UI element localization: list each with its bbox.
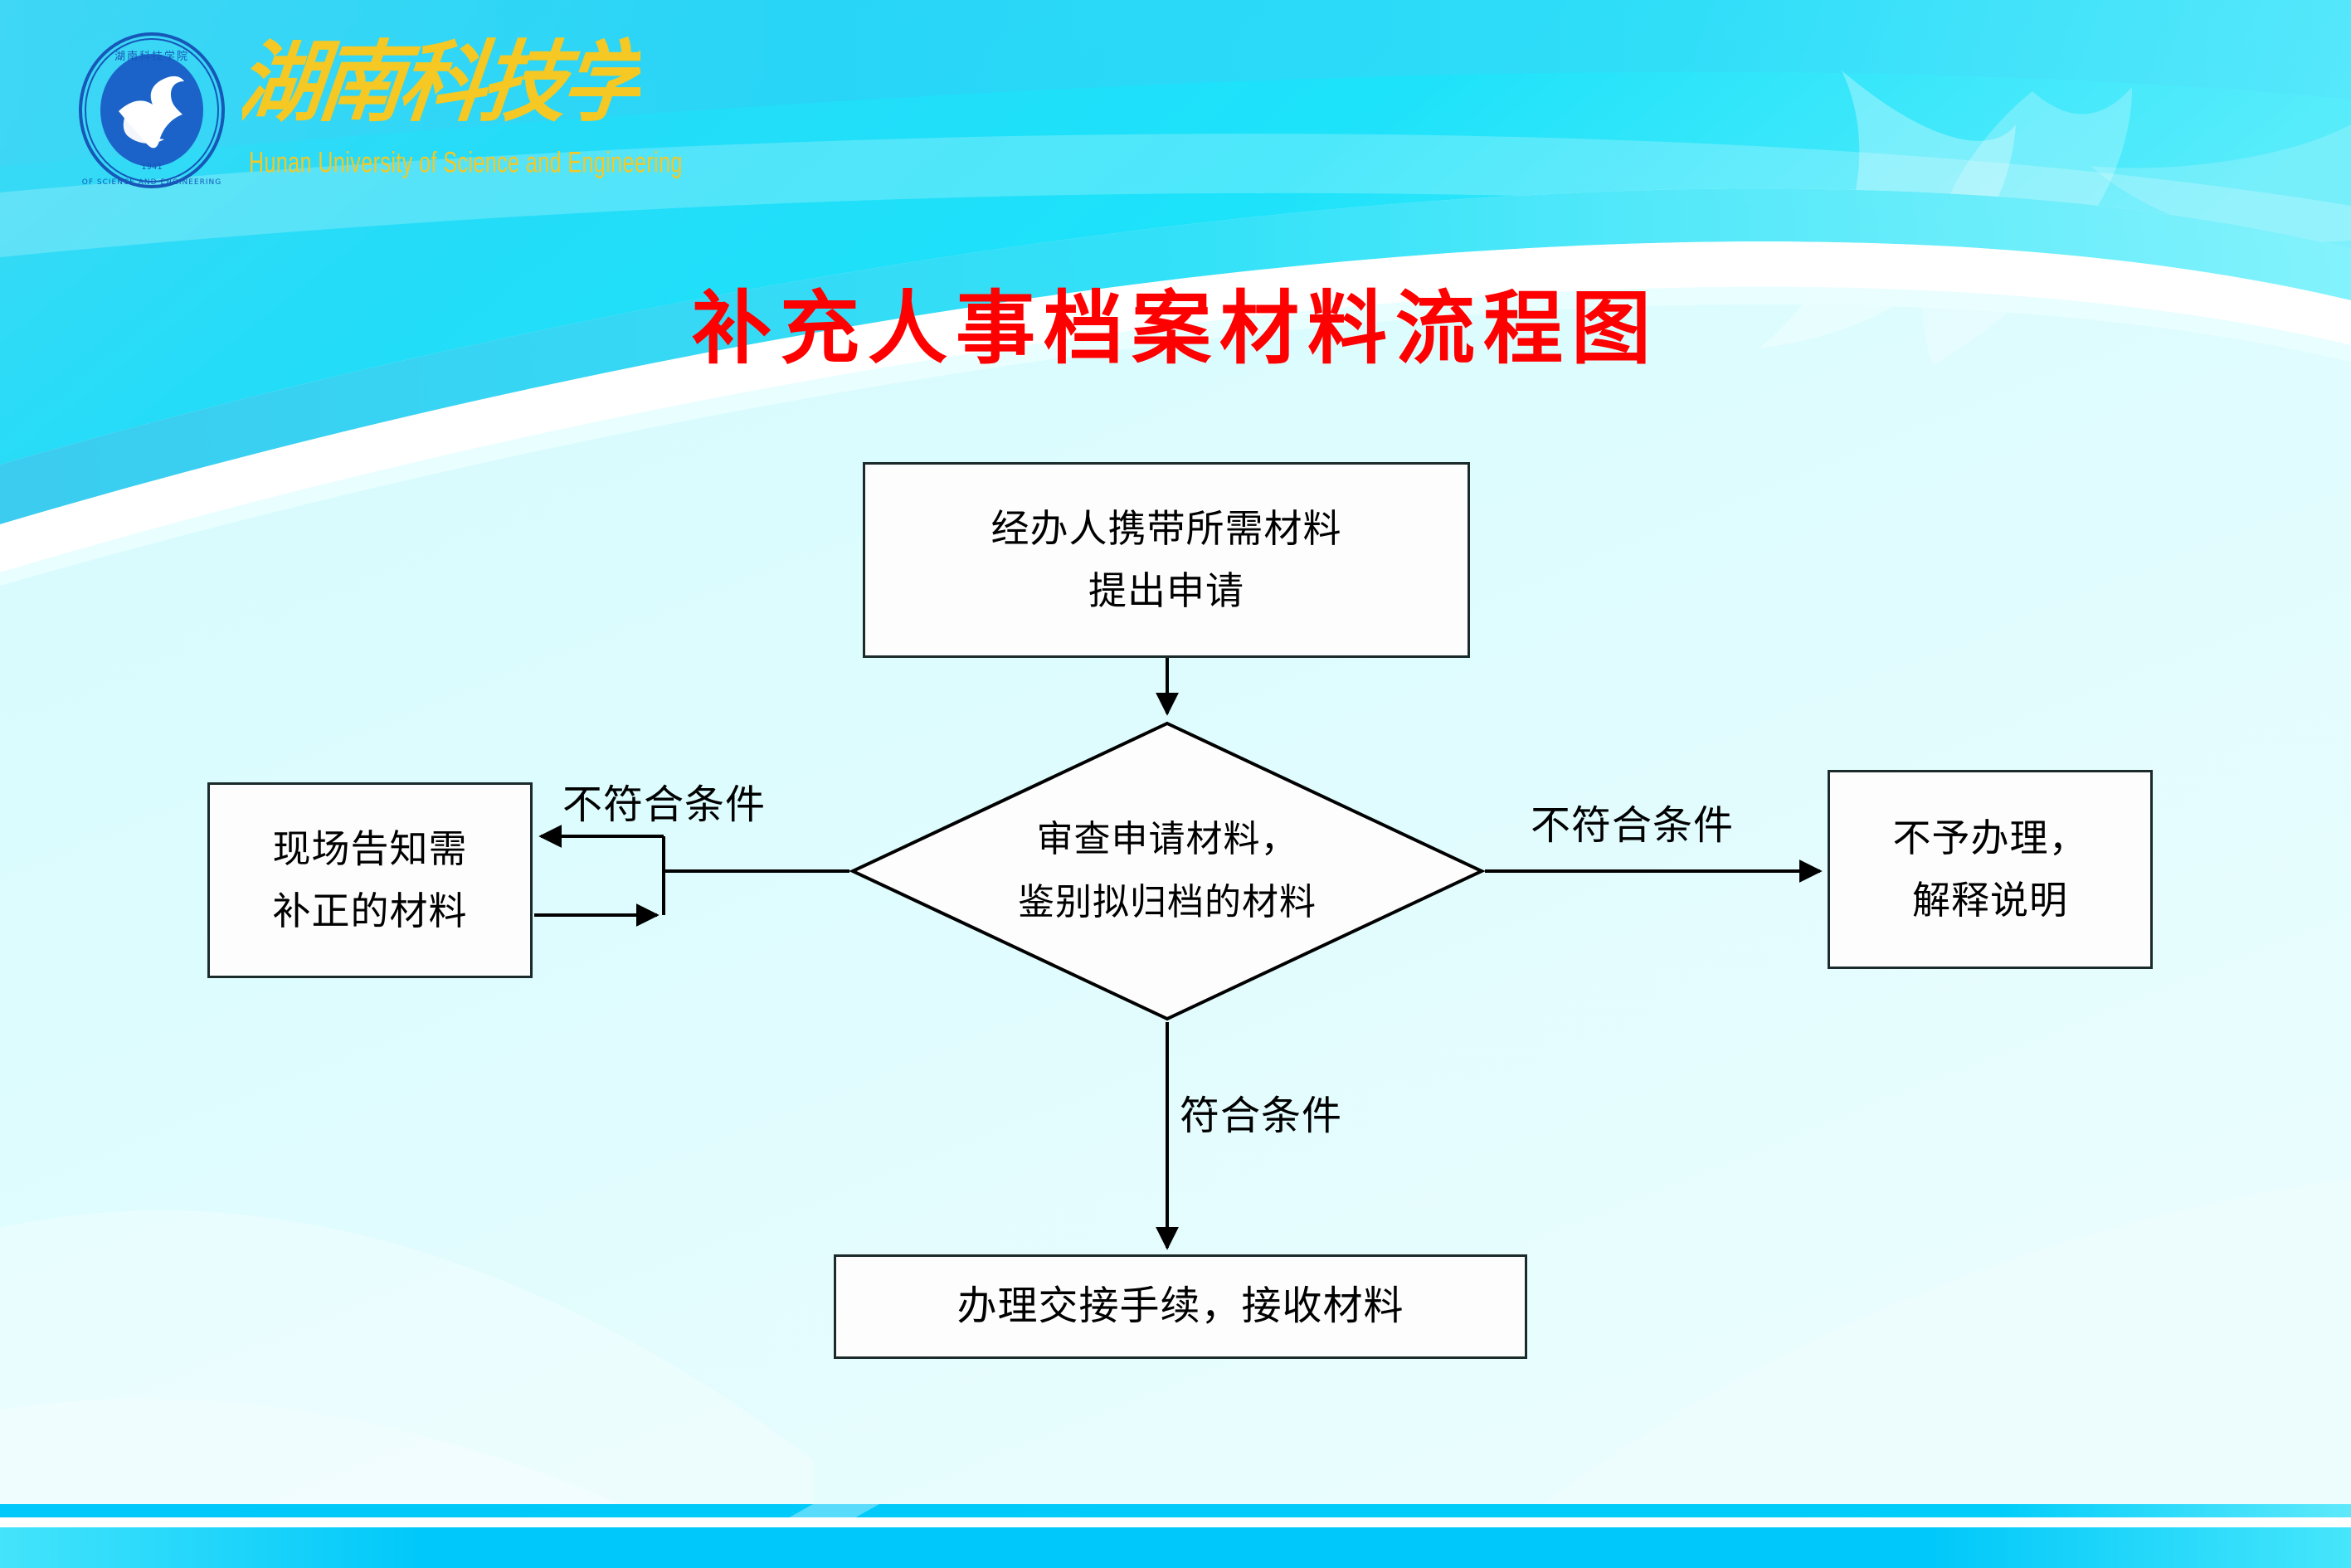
flow-node-reject-line-2: 解释说明 bbox=[1912, 869, 2068, 932]
edge-label-left: 不符合条件 bbox=[562, 772, 766, 830]
page-title: 补充人事档案材料流程图 bbox=[0, 264, 2351, 379]
svg-text:OF SCIENCE AND ENGINEERING: OF SCIENCE AND ENGINEERING bbox=[82, 178, 221, 187]
flow-node-accept-line-1: 办理交接手续，接收材料 bbox=[956, 1274, 1404, 1339]
flow-node-notify-line-1: 现场告知需 bbox=[273, 818, 468, 880]
flow-node-reject-line-1: 不予办理， bbox=[1893, 807, 2088, 869]
university-name-en: Hunan University of Science and Engineer… bbox=[249, 145, 683, 180]
flow-node-review[interactable]: 审查申请材料， 鉴别拟归档的材料 bbox=[849, 720, 1485, 1022]
svg-text:湖南科技学院: 湖南科技学院 bbox=[242, 32, 640, 131]
svg-text:湖南科技学院: 湖南科技学院 bbox=[114, 50, 189, 63]
slide-canvas: 1941 湖南科技学院 OF SCIENCE AND ENGINEERING 湖… bbox=[0, 0, 2351, 1568]
flow-node-notify-line-2: 补正的材料 bbox=[273, 880, 468, 942]
flow-node-accept[interactable]: 办理交接手续，接收材料 bbox=[834, 1254, 1527, 1359]
edge-label-bottom: 符合条件 bbox=[1180, 1083, 1342, 1141]
university-name-cn: 湖南科技学院 bbox=[242, 32, 640, 131]
flow-node-reject[interactable]: 不予办理， 解释说明 bbox=[1828, 770, 2153, 969]
flow-node-apply-line-1: 经办人携带所需材料 bbox=[991, 498, 1342, 560]
flow-node-apply-line-2: 提出申请 bbox=[1088, 560, 1244, 622]
edge-label-right: 不符合条件 bbox=[1531, 792, 1734, 850]
svg-text:1941: 1941 bbox=[141, 163, 162, 172]
flow-node-notify[interactable]: 现场告知需 补正的材料 bbox=[207, 782, 533, 978]
flow-node-apply[interactable]: 经办人携带所需材料 提出申请 bbox=[863, 462, 1470, 658]
university-crest-icon: 1941 湖南科技学院 OF SCIENCE AND ENGINEERING bbox=[73, 32, 231, 189]
